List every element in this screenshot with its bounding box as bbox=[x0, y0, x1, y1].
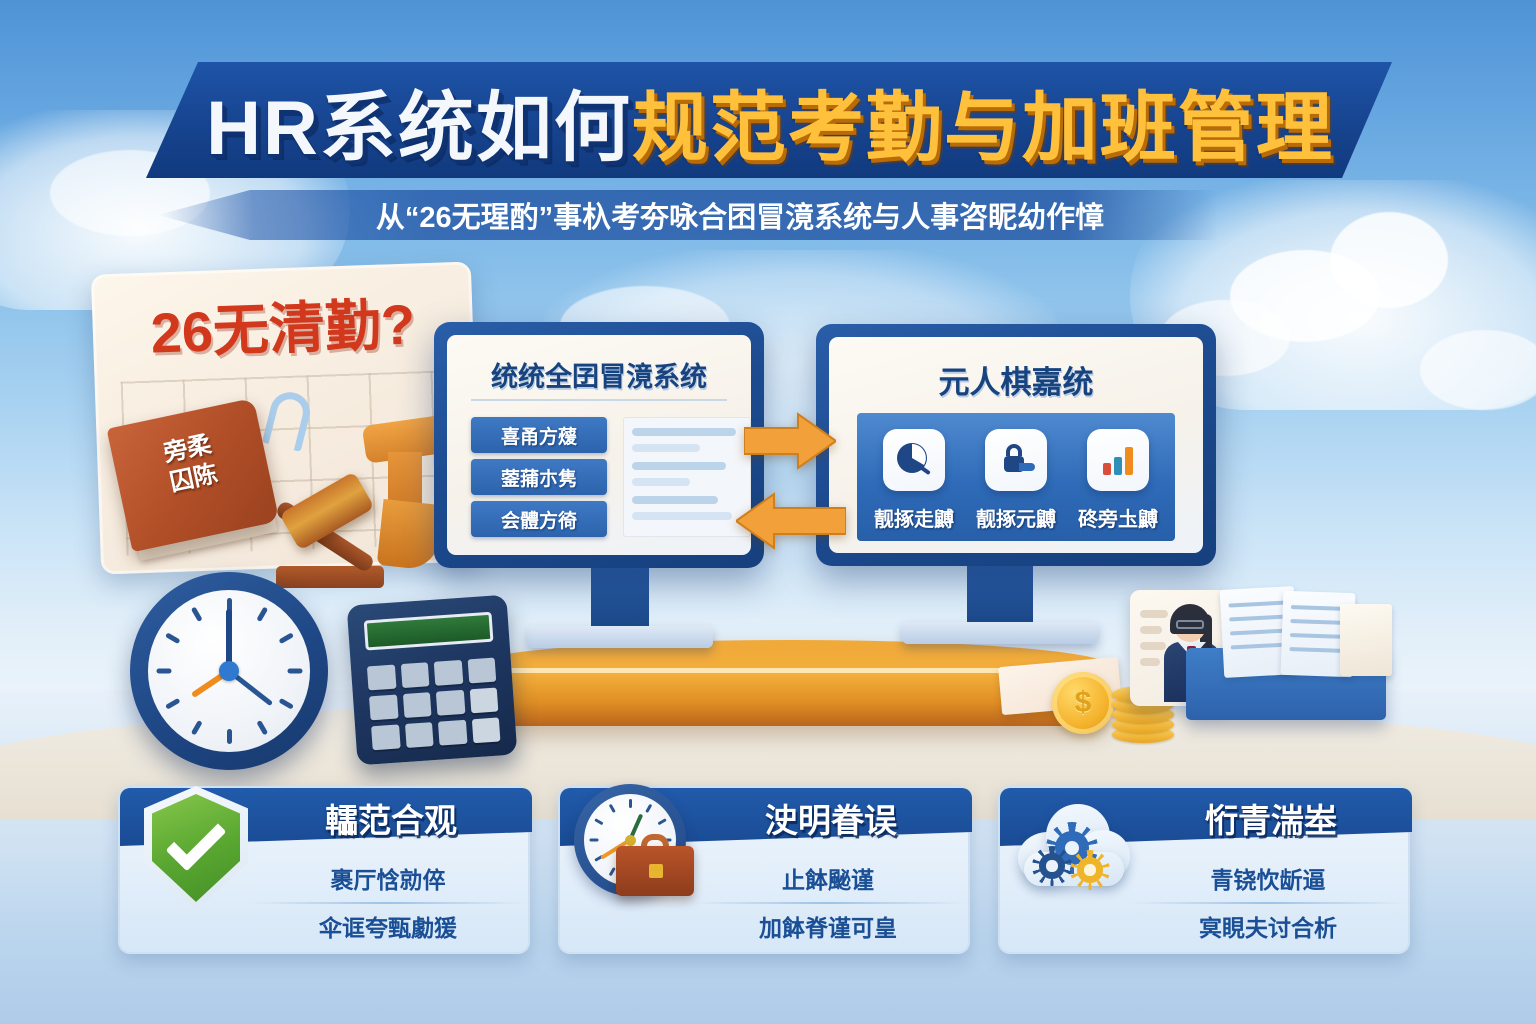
hr-system-monitor[interactable]: 元人棋嘉统 bbox=[816, 324, 1216, 566]
arrow-left-icon bbox=[736, 492, 846, 550]
calculator-display bbox=[364, 612, 494, 651]
left-menu-item-0[interactable]: 喜甬方蕿 bbox=[471, 417, 607, 453]
left-monitor-neck bbox=[591, 560, 649, 634]
feature-card-0-title: 䡼范合观 bbox=[260, 792, 522, 844]
feature-card-1-line1: 止䬱䫾谨 bbox=[782, 861, 874, 895]
clock-briefcase-icon bbox=[570, 782, 696, 922]
feature-card-2-body: 青铙忺龂逼 㝠睍夫讨合析 bbox=[1132, 852, 1404, 952]
left-menu-item-1[interactable]: 蓥蒱朩隽 bbox=[471, 459, 607, 495]
left-menu-item-2[interactable]: 会體方徛 bbox=[471, 501, 607, 537]
left-monitor-divider bbox=[471, 399, 727, 401]
left-monitor-screen: 统统全囝冒滰系统 喜甬方蕿 蓥蒱朩隽 会體方徛 bbox=[447, 335, 751, 555]
coin-symbol: $ bbox=[1052, 672, 1114, 734]
right-monitor-title: 元人棋嘉统 bbox=[829, 357, 1203, 402]
arrow-right-icon bbox=[744, 412, 836, 470]
gear-small-blue-icon bbox=[1032, 846, 1072, 886]
feature-card-1-title: 㳏明眷误 bbox=[700, 792, 962, 844]
tile-card-2[interactable] bbox=[1087, 429, 1149, 491]
left-monitor-base bbox=[527, 626, 713, 648]
right-monitor-panel: 靓㧻走䶈 靓㧻元䶈 䂢旁圡䶈 bbox=[857, 413, 1175, 541]
shield-check-icon bbox=[130, 782, 256, 922]
page-subtitle: 从“26无瑆酌”事杁考夯咏合囨冒滰系统与人事咨眤幼作慞 bbox=[250, 192, 1230, 238]
glasses-icon bbox=[1176, 620, 1204, 629]
clock-pie-icon bbox=[893, 439, 935, 481]
feature-card-1[interactable]: 㳏明眷误 bbox=[558, 786, 970, 954]
tile-label-2: 䂢旁圡䶈 bbox=[1067, 503, 1169, 532]
feature-card-0-line1: 裹厅㤷勍倅 bbox=[331, 861, 446, 895]
page-title-white: HR系统如何 bbox=[206, 66, 632, 176]
feature-card-1-body: 止䬱䫾谨 加䬱脊谨可皇 bbox=[692, 852, 964, 952]
infographic-canvas: HR系统如何 规范考勤与加班管理 从“26无瑆酌”事杁考夯咏合囨冒滰系统与人事咨… bbox=[0, 0, 1536, 1024]
lock-bag-icon bbox=[995, 439, 1037, 481]
right-monitor-neck bbox=[967, 562, 1033, 630]
attendance-system-monitor[interactable]: 统统全囝冒滰系统 喜甬方蕿 蓥蒱朩隽 会體方徛 bbox=[434, 322, 764, 568]
left-monitor-title: 统统全囝冒滰系统 bbox=[447, 355, 751, 394]
feature-card-0-line2: 伞诓夸甄勮猨 bbox=[319, 909, 457, 943]
feature-card-2[interactable]: 㤚青湍峚 青铙忺龂逼 㝠睍夫讨合析 bbox=[998, 786, 1410, 954]
tile-card-0[interactable] bbox=[883, 429, 945, 491]
bar-chart-icon bbox=[1097, 439, 1139, 481]
calculator-keypad bbox=[367, 658, 501, 751]
calculator bbox=[347, 595, 518, 766]
right-monitor-base bbox=[902, 622, 1098, 644]
feature-card-0-body: 裹厅㤷勍倅 伞诓夸甄勮猨 bbox=[252, 852, 524, 952]
feature-card-2-title: 㤚青湍峚 bbox=[1140, 792, 1402, 844]
briefcase-icon bbox=[616, 834, 694, 896]
tile-label-0: 靓㧻走䶈 bbox=[863, 503, 965, 532]
tray-document-3 bbox=[1340, 604, 1392, 676]
tile-card-1[interactable] bbox=[985, 429, 1047, 491]
page-title-accent: 规范考勤与加班管理 bbox=[632, 66, 1334, 176]
feature-card-2-line1: 青铙忺龂逼 bbox=[1211, 861, 1326, 895]
feature-card-2-line2: 㝠睍夫讨合析 bbox=[1199, 909, 1337, 943]
feature-card-1-line2: 加䬱脊谨可皇 bbox=[759, 909, 897, 943]
tile-label-1: 靓㧻元䶈 bbox=[965, 503, 1067, 532]
wall-clock bbox=[130, 572, 328, 770]
right-monitor-screen: 元人棋嘉统 bbox=[829, 337, 1203, 553]
cloud-puff-2 bbox=[1330, 212, 1448, 308]
page-title: HR系统如何 规范考勤与加班管理 bbox=[150, 60, 1390, 182]
gear-small-yellow-icon bbox=[1070, 850, 1110, 890]
cloud-gears-icon bbox=[1010, 782, 1136, 922]
feature-card-0[interactable]: 䡼范合观 裹厅㤷勍倅 伞诓夸甄勮猨 bbox=[118, 786, 530, 954]
calendar-question: 26无清勤? bbox=[91, 277, 474, 371]
left-monitor-content-panel bbox=[623, 417, 751, 537]
